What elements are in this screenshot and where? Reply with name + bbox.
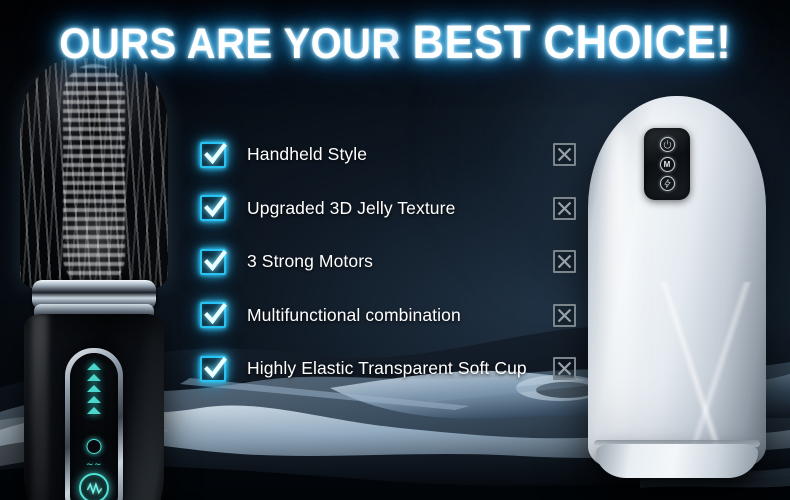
product-image-left: ∼∼: [2, 58, 182, 500]
checkbox-checked-icon[interactable]: [200, 356, 226, 382]
page-title: OURS ARE YOUR BEST CHOICE!: [59, 18, 731, 66]
x-icon: [555, 145, 574, 164]
x-icon: [555, 252, 574, 271]
white-device-control-panel: M: [644, 128, 690, 200]
feature-row: Highly Elastic Transparent Soft Cup: [200, 342, 590, 396]
white-device-base-cap: [596, 444, 758, 478]
checkmark-icon: [200, 354, 230, 384]
promo-banner: OURS ARE YOUR BEST CHOICE! ∼∼: [0, 0, 790, 500]
lightning-icon[interactable]: [660, 176, 675, 191]
lightning-glyph-icon: [663, 179, 672, 188]
feature-row: Multifunctional combination: [200, 289, 590, 343]
checkmark-icon: [200, 193, 230, 223]
checkmark-icon: [200, 247, 230, 277]
control-panel-frame: ∼∼: [65, 348, 123, 500]
x-icon: [555, 199, 574, 218]
title-part-1: OURS ARE YOUR: [59, 20, 401, 68]
checkmark-icon: [200, 140, 230, 170]
white-device-body: M: [588, 96, 766, 468]
control-panel-inner: ∼∼: [70, 353, 118, 500]
x-icon: [555, 306, 574, 325]
feature-label: Multifunctional combination: [247, 305, 461, 326]
x-mark-box-icon[interactable]: [553, 357, 576, 380]
feature-label: 3 Strong Motors: [247, 251, 373, 272]
power-glyph-icon: [663, 140, 672, 149]
intensity-chevrons-icon: [70, 363, 118, 433]
feature-row: 3 Strong Motors: [200, 235, 590, 289]
feature-label: Upgraded 3D Jelly Texture: [247, 198, 455, 219]
product-image-right: M: [588, 96, 766, 500]
x-mark-box-icon[interactable]: [553, 143, 576, 166]
x-icon: [555, 359, 574, 378]
x-mark-box-icon[interactable]: [553, 250, 576, 273]
checkbox-checked-icon[interactable]: [200, 142, 226, 168]
checkbox-checked-icon[interactable]: [200, 302, 226, 328]
feature-row: Handheld Style: [200, 128, 590, 182]
wave-icon: [86, 480, 103, 497]
x-mark-box-icon[interactable]: [553, 304, 576, 327]
mode-indicator-icon: [87, 439, 102, 454]
transparent-sleeve: [20, 58, 168, 290]
feature-row: Upgraded 3D Jelly Texture: [200, 182, 590, 236]
x-mark-box-icon[interactable]: [553, 197, 576, 220]
black-device-body: ∼∼: [24, 314, 164, 500]
checkbox-checked-icon[interactable]: [200, 249, 226, 275]
mode-m-icon[interactable]: M: [660, 157, 675, 172]
banner-title-wrapper: OURS ARE YOUR BEST CHOICE!: [0, 18, 790, 66]
feature-label: Handheld Style: [247, 144, 367, 165]
feature-label: Highly Elastic Transparent Soft Cup: [247, 358, 527, 379]
title-part-2: BEST CHOICE!: [412, 15, 731, 68]
feature-list: Handheld Style Upgraded 3D Jelly Texture: [200, 128, 590, 396]
checkbox-checked-icon[interactable]: [200, 195, 226, 221]
wave-label-icon: ∼∼: [86, 459, 102, 470]
power-icon[interactable]: [660, 137, 675, 152]
wave-button[interactable]: [79, 473, 109, 500]
checkmark-icon: [200, 300, 230, 330]
